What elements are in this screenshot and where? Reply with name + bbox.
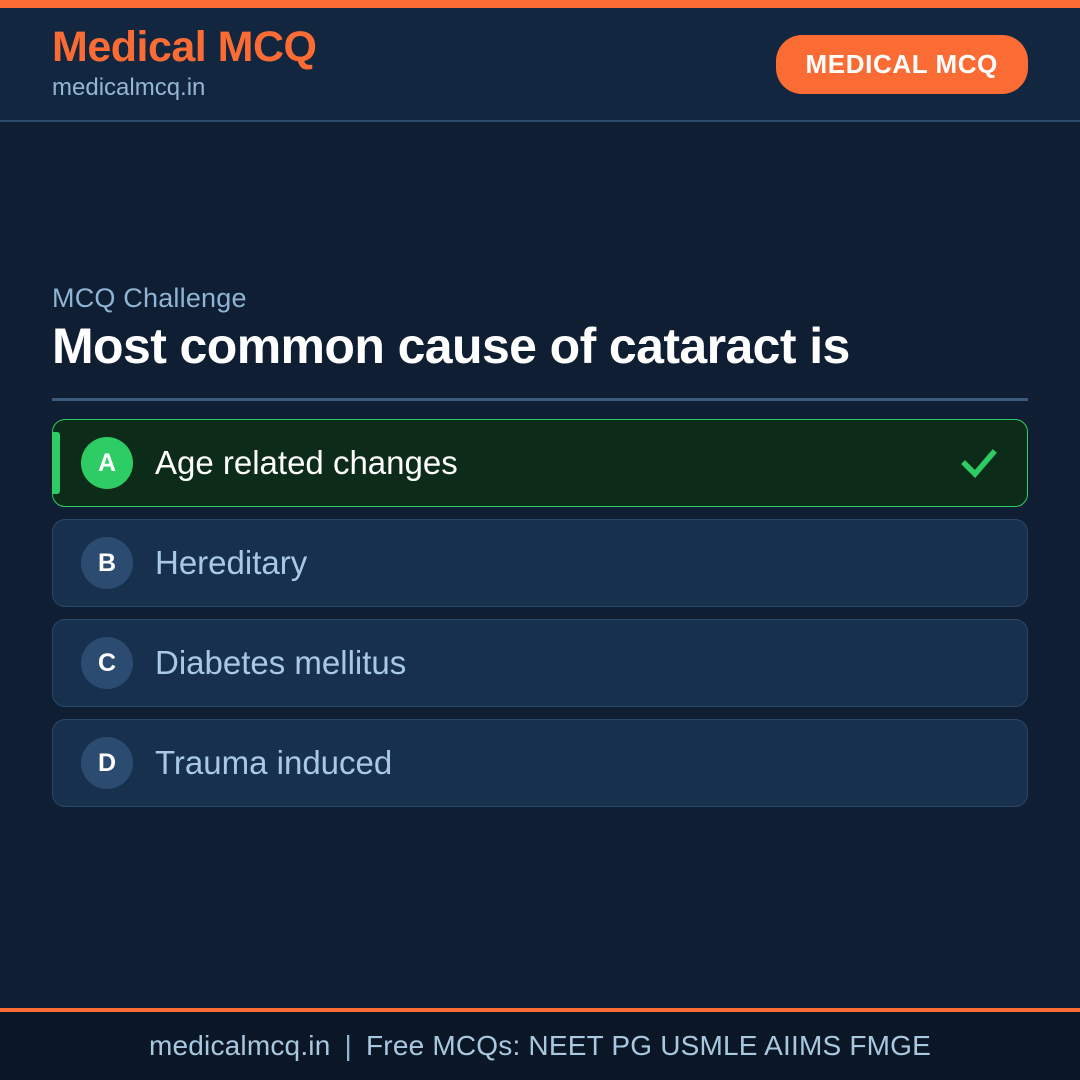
option-label-a: Age related changes xyxy=(155,445,959,481)
check-icon xyxy=(959,443,999,483)
footer-text: medicalmcq.in|Free MCQs: NEET PG USMLE A… xyxy=(149,1030,931,1062)
site-header: Medical MCQ medicalmcq.in MEDICAL MCQ xyxy=(0,8,1080,122)
brand-title: Medical MCQ xyxy=(52,25,317,71)
option-letter-a: A xyxy=(81,437,133,489)
options-list: A Age related changes B Hereditary C Dia… xyxy=(52,419,1028,807)
mcq-card: Medical MCQ medicalmcq.in MEDICAL MCQ MC… xyxy=(0,0,1080,1080)
option-label-c: Diabetes mellitus xyxy=(155,645,999,681)
option-row-c[interactable]: C Diabetes mellitus xyxy=(52,619,1028,707)
brand-subtitle: medicalmcq.in xyxy=(52,72,317,103)
option-row-d[interactable]: D Trauma induced xyxy=(52,719,1028,807)
option-letter-d: D xyxy=(81,737,133,789)
footer-site[interactable]: medicalmcq.in xyxy=(149,1030,331,1061)
option-letter-b: B xyxy=(81,537,133,589)
option-row-a[interactable]: A Age related changes xyxy=(52,419,1028,507)
option-label-d: Trauma induced xyxy=(155,745,999,781)
option-row-b[interactable]: B Hereditary xyxy=(52,519,1028,607)
option-label-b: Hereditary xyxy=(155,545,999,581)
top-accent-bar xyxy=(0,0,1080,8)
main-content: MCQ Challenge Most common cause of catar… xyxy=(0,122,1080,1008)
question-text: Most common cause of cataract is xyxy=(52,318,1028,374)
footer-exams: Free MCQs: NEET PG USMLE AIIMS FMGE xyxy=(366,1030,931,1061)
site-footer: medicalmcq.in|Free MCQs: NEET PG USMLE A… xyxy=(0,1008,1080,1080)
question-block: MCQ Challenge Most common cause of catar… xyxy=(52,283,1028,807)
brand: Medical MCQ medicalmcq.in xyxy=(52,25,317,104)
question-divider xyxy=(52,398,1028,401)
footer-separator: | xyxy=(331,1030,366,1061)
option-letter-c: C xyxy=(81,637,133,689)
question-kicker: MCQ Challenge xyxy=(52,283,1028,314)
header-badge: MEDICAL MCQ xyxy=(776,35,1028,94)
